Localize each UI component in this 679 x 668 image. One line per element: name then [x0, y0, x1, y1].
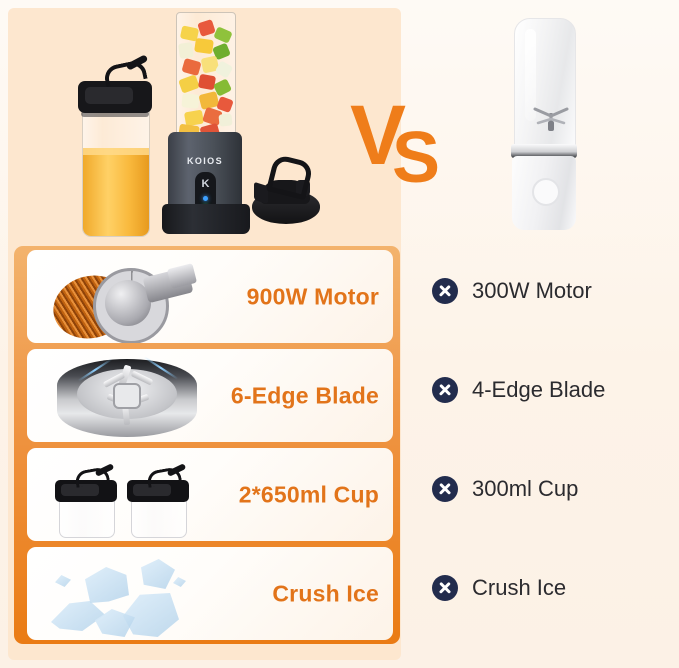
right-feature-blade: 4-Edge Blade — [432, 377, 605, 403]
blade-image — [27, 349, 227, 442]
vs-badge: V S — [350, 96, 455, 188]
mini-cup-1 — [55, 470, 117, 536]
comparison-infographic: KOIOS K V S — [0, 0, 679, 668]
right-feature-motor: 300W Motor — [432, 278, 592, 304]
motor-image — [27, 250, 227, 343]
feature-label-ice: Crush Ice — [272, 580, 379, 607]
hero-products-row: KOIOS K V S — [0, 0, 679, 248]
mini-cup-2 — [127, 470, 189, 536]
x-circle-icon — [432, 575, 458, 601]
blade-hub — [115, 385, 139, 407]
ice-chip-1 — [55, 575, 71, 587]
ice-image — [27, 547, 227, 640]
right-feature-ice: Crush Ice — [432, 575, 566, 601]
left-feature-card-list: 900W Motor — [27, 250, 393, 638]
koios-motor-base: KOIOS K — [168, 132, 242, 212]
led-indicator-blue — [203, 196, 208, 201]
juice-cup-lid-top — [85, 87, 133, 104]
juice-cup-lid — [78, 81, 152, 113]
x-circle-icon — [432, 377, 458, 403]
koios-base-foot — [162, 204, 250, 234]
competitor-portable-blender — [508, 18, 580, 230]
competitor-power-button[interactable] — [532, 178, 560, 206]
competitor-jar — [514, 18, 576, 150]
koios-brand-text: KOIOS — [168, 156, 242, 166]
orange-juice-fill — [83, 148, 149, 236]
feature-label-blade: 6-Edge Blade — [231, 382, 379, 409]
ice-shard-3 — [123, 593, 179, 637]
right-feature-cup: 300ml Cup — [432, 476, 578, 502]
feature-card-motor[interactable]: 900W Motor — [27, 250, 393, 343]
koios-blender: KOIOS K — [160, 12, 252, 240]
right-feature-label-motor: 300W Motor — [472, 278, 592, 304]
koios-jar-with-fruit — [176, 12, 236, 142]
left-feature-frame: 900W Motor — [14, 246, 400, 644]
ice-chip-2 — [173, 577, 186, 587]
ice-shard-1 — [51, 601, 105, 631]
ice-shard-2 — [85, 567, 129, 603]
svg-text:S: S — [392, 118, 440, 188]
competitor-motor-body — [512, 156, 576, 230]
x-circle-icon — [432, 278, 458, 304]
competitor-blade-icon — [531, 107, 571, 133]
feature-card-blade[interactable]: 6-Edge Blade — [27, 349, 393, 442]
feature-card-cups[interactable]: 2*650ml Cup — [27, 448, 393, 541]
right-feature-label-blade: 4-Edge Blade — [472, 377, 605, 403]
juice-cup-accessory — [78, 63, 152, 235]
right-feature-label-cup: 300ml Cup — [472, 476, 578, 502]
right-feature-label-ice: Crush Ice — [472, 575, 566, 601]
right-feature-list: 300W Motor 4-Edge Blade 300ml Cup Crush … — [432, 246, 672, 644]
motor-shaft-tip — [167, 263, 197, 289]
ice-shard-4 — [141, 559, 175, 589]
feature-card-ice[interactable]: Crush Ice — [27, 547, 393, 640]
feature-label-motor: 900W Motor — [247, 283, 379, 310]
x-circle-icon — [432, 476, 458, 502]
feature-label-cups: 2*650ml Cup — [239, 481, 379, 508]
cups-image — [27, 448, 227, 541]
koios-k-logo-icon: K — [200, 178, 211, 191]
travel-lid-accessory — [252, 160, 320, 226]
